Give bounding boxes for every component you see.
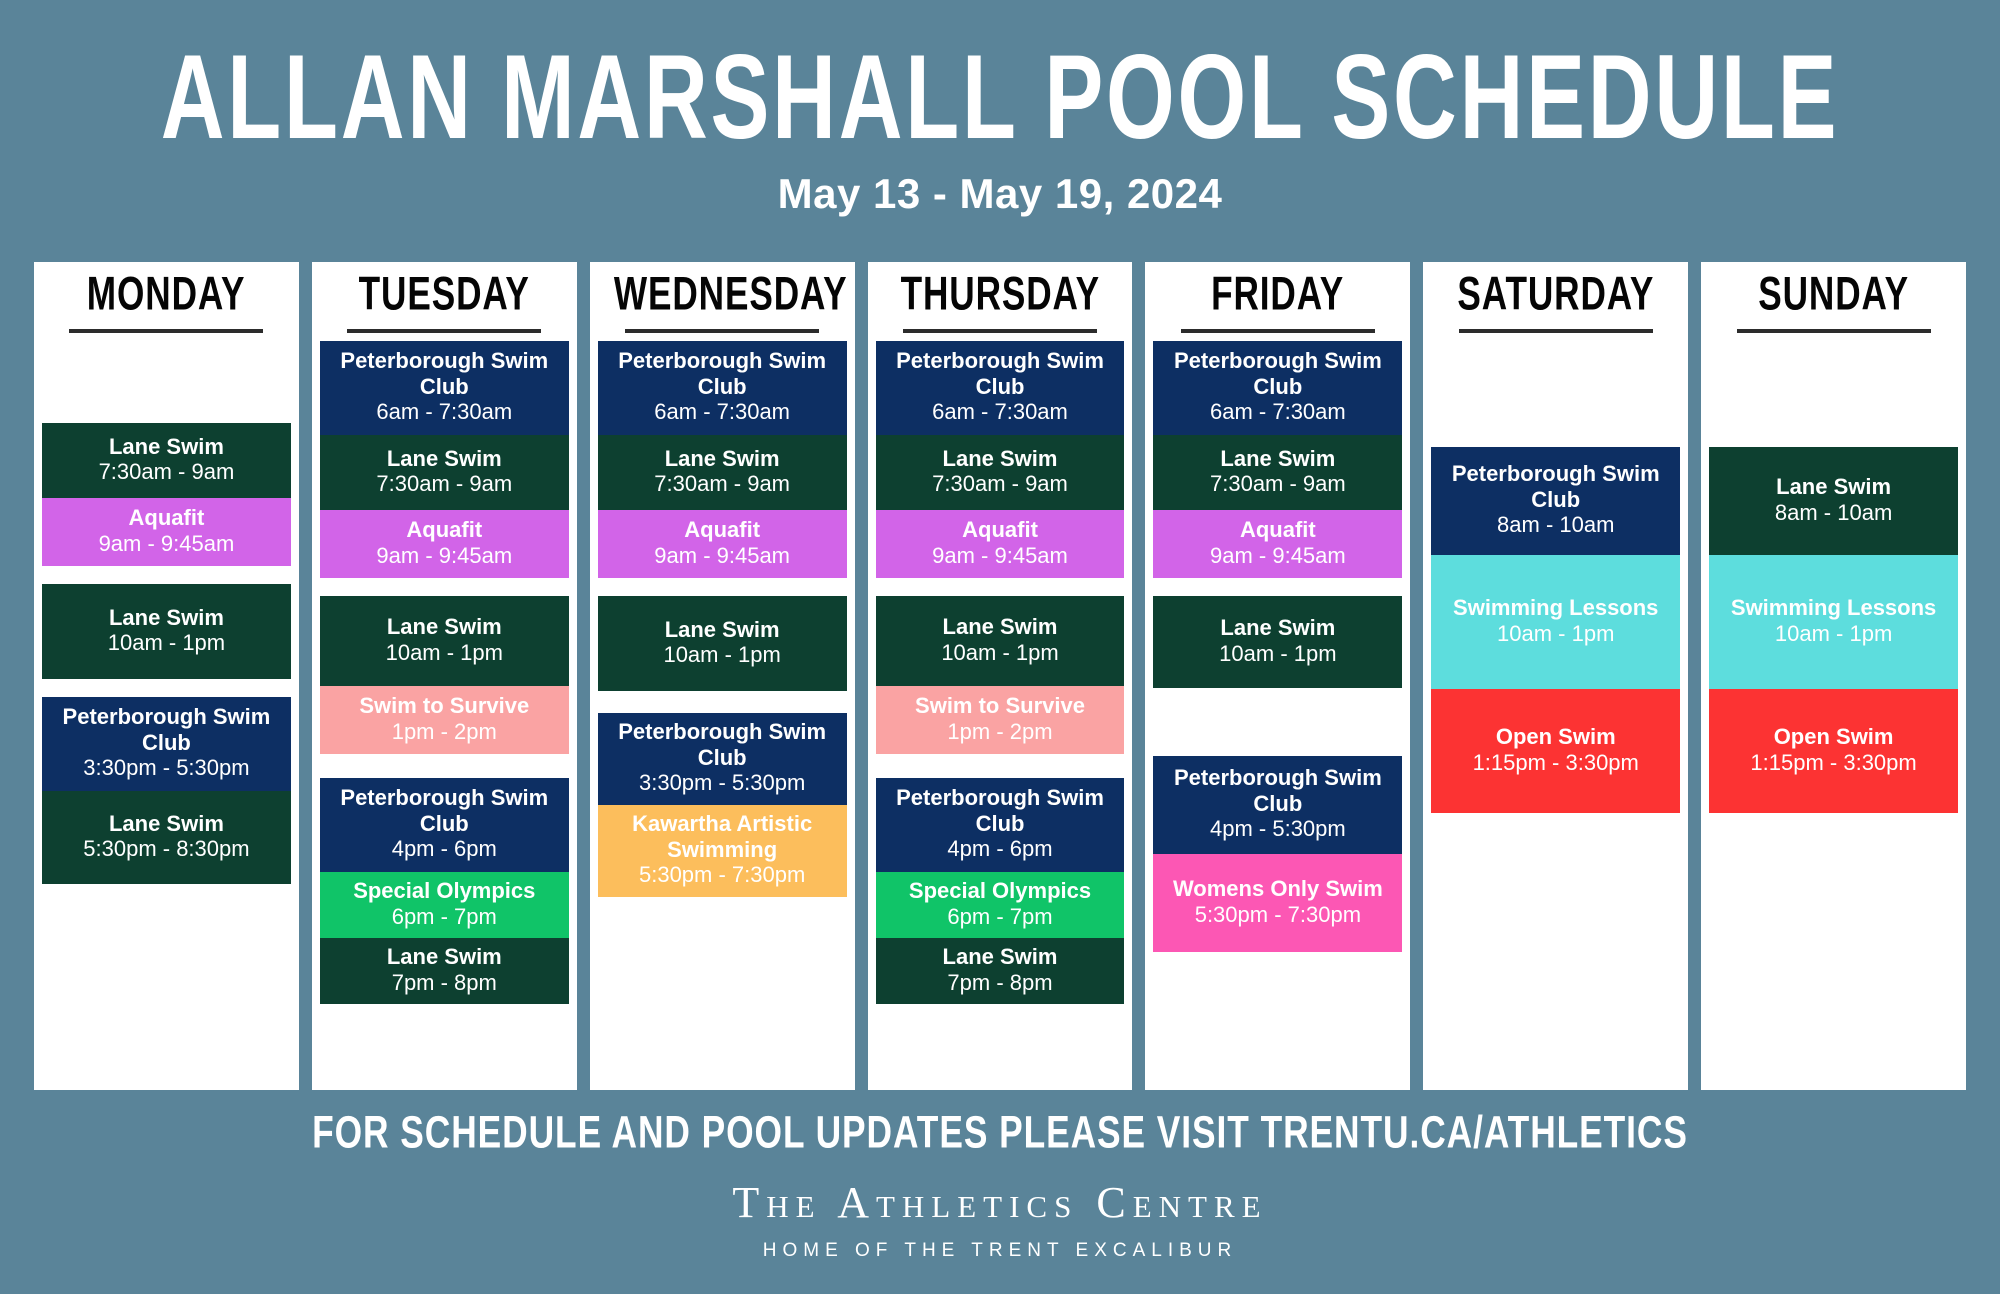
schedule-slot[interactable]: Lane Swim7:30am - 9am bbox=[320, 435, 569, 510]
day-header: WEDNESDAY bbox=[598, 262, 847, 333]
day-name-label: SATURDAY bbox=[1457, 268, 1654, 321]
slot-gap bbox=[42, 341, 291, 423]
schedule-slot[interactable]: Aquafit9am - 9:45am bbox=[42, 498, 291, 566]
slot-time: 6am - 7:30am bbox=[324, 399, 565, 425]
day-column-tuesday: TUESDAYPeterborough Swim Club6am - 7:30a… bbox=[312, 262, 577, 1090]
schedule-slot[interactable]: Peterborough Swim Club6am - 7:30am bbox=[876, 341, 1125, 435]
slot-time: 1pm - 2pm bbox=[324, 719, 565, 745]
slot-title: Swimming Lessons bbox=[1435, 595, 1676, 621]
slot-title: Peterborough Swim Club bbox=[324, 785, 565, 836]
schedule-slot[interactable]: Peterborough Swim Club6am - 7:30am bbox=[598, 341, 847, 435]
slot-gap bbox=[876, 578, 1125, 596]
slot-gap bbox=[1153, 688, 1402, 756]
schedule-slot[interactable]: Lane Swim7:30am - 9am bbox=[42, 423, 291, 498]
schedule-slot[interactable]: Lane Swim8am - 10am bbox=[1709, 447, 1958, 555]
slot-time: 9am - 9:45am bbox=[324, 543, 565, 569]
slot-gap bbox=[598, 691, 847, 713]
schedule-slot[interactable]: Special Olympics6pm - 7pm bbox=[876, 872, 1125, 938]
schedule-slot[interactable]: Peterborough Swim Club3:30pm - 5:30pm bbox=[42, 697, 291, 791]
slot-list: Lane Swim8am - 10amSwimming Lessons10am … bbox=[1709, 341, 1958, 813]
slot-time: 10am - 1pm bbox=[46, 630, 287, 656]
schedule-slot[interactable]: Peterborough Swim Club4pm - 5:30pm bbox=[1153, 756, 1402, 854]
slot-gap bbox=[598, 578, 847, 596]
slot-list: Peterborough Swim Club6am - 7:30amLane S… bbox=[320, 341, 569, 1004]
day-underline bbox=[69, 329, 263, 333]
slot-title: Peterborough Swim Club bbox=[1157, 348, 1398, 399]
schedule-slot[interactable]: Special Olympics6pm - 7pm bbox=[320, 872, 569, 938]
footer-updates-line: FOR SCHEDULE AND POOL UPDATES PLEASE VIS… bbox=[70, 1108, 1930, 1160]
slot-time: 6pm - 7pm bbox=[324, 904, 565, 930]
slot-time: 10am - 1pm bbox=[324, 640, 565, 666]
slot-list: Peterborough Swim Club6am - 7:30amLane S… bbox=[876, 341, 1125, 1004]
slot-title: Peterborough Swim Club bbox=[324, 348, 565, 399]
schedule-slot[interactable]: Lane Swim10am - 1pm bbox=[42, 584, 291, 679]
slot-title: Swim to Survive bbox=[880, 693, 1121, 719]
schedule-slot[interactable]: Peterborough Swim Club6am - 7:30am bbox=[1153, 341, 1402, 435]
slot-time: 1:15pm - 3:30pm bbox=[1713, 750, 1954, 776]
day-name-label: MONDAY bbox=[87, 268, 245, 321]
slot-title: Lane Swim bbox=[46, 434, 287, 460]
slot-time: 3:30pm - 5:30pm bbox=[46, 755, 287, 781]
slot-time: 6pm - 7pm bbox=[880, 904, 1121, 930]
day-name-label: THURSDAY bbox=[900, 268, 1099, 321]
poster-footer: FOR SCHEDULE AND POOL UPDATES PLEASE VIS… bbox=[0, 1108, 2000, 1262]
schedule-slot[interactable]: Kawartha Artistic Swimming5:30pm - 7:30p… bbox=[598, 805, 847, 897]
slot-time: 7pm - 8pm bbox=[880, 970, 1121, 996]
slot-time: 7:30am - 9am bbox=[46, 459, 287, 485]
schedule-slot[interactable]: Lane Swim7:30am - 9am bbox=[598, 435, 847, 510]
slot-title: Aquafit bbox=[46, 505, 287, 531]
schedule-slot[interactable]: Lane Swim7pm - 8pm bbox=[320, 938, 569, 1004]
schedule-slot[interactable]: Swim to Survive1pm - 2pm bbox=[876, 686, 1125, 754]
slot-list: Peterborough Swim Club6am - 7:30amLane S… bbox=[598, 341, 847, 897]
slot-title: Swim to Survive bbox=[324, 693, 565, 719]
slot-time: 7:30am - 9am bbox=[324, 471, 565, 497]
schedule-slot[interactable]: Lane Swim10am - 1pm bbox=[598, 596, 847, 691]
slot-gap bbox=[320, 578, 569, 596]
slot-time: 10am - 1pm bbox=[1713, 621, 1954, 647]
slot-time: 6am - 7:30am bbox=[602, 399, 843, 425]
day-header: SUNDAY bbox=[1709, 262, 1958, 333]
slot-list: Lane Swim7:30am - 9amAquafit9am - 9:45am… bbox=[42, 341, 291, 884]
schedule-slot[interactable]: Peterborough Swim Club4pm - 6pm bbox=[320, 778, 569, 872]
slot-time: 1:15pm - 3:30pm bbox=[1435, 750, 1676, 776]
day-header: SATURDAY bbox=[1431, 262, 1680, 333]
day-underline bbox=[625, 329, 819, 333]
schedule-slot[interactable]: Swimming Lessons10am - 1pm bbox=[1431, 555, 1680, 689]
slot-title: Peterborough Swim Club bbox=[602, 719, 843, 770]
slot-title: Open Swim bbox=[1713, 724, 1954, 750]
day-underline bbox=[347, 329, 541, 333]
slot-title: Peterborough Swim Club bbox=[880, 785, 1121, 836]
pool-schedule-poster: ALLAN MARSHALL POOL SCHEDULE May 13 - Ma… bbox=[0, 0, 2000, 1294]
schedule-slot[interactable]: Aquafit9am - 9:45am bbox=[1153, 510, 1402, 578]
slot-gap bbox=[1153, 578, 1402, 596]
schedule-slot[interactable]: Peterborough Swim Club6am - 7:30am bbox=[320, 341, 569, 435]
slot-time: 9am - 9:45am bbox=[880, 543, 1121, 569]
slot-gap bbox=[1431, 341, 1680, 447]
slot-title: Peterborough Swim Club bbox=[602, 348, 843, 399]
slot-time: 9am - 9:45am bbox=[602, 543, 843, 569]
slot-time: 8am - 10am bbox=[1713, 500, 1954, 526]
page-title: ALLAN MARSHALL POOL SCHEDULE bbox=[80, 38, 1920, 158]
slot-title: Lane Swim bbox=[880, 614, 1121, 640]
schedule-slot[interactable]: Peterborough Swim Club4pm - 6pm bbox=[876, 778, 1125, 872]
slot-title: Open Swim bbox=[1435, 724, 1676, 750]
slot-list: Peterborough Swim Club8am - 10amSwimming… bbox=[1431, 341, 1680, 813]
slot-title: Swimming Lessons bbox=[1713, 595, 1954, 621]
slot-time: 10am - 1pm bbox=[1157, 641, 1398, 667]
slot-gap bbox=[876, 754, 1125, 778]
slot-title: Lane Swim bbox=[1157, 446, 1398, 472]
day-underline bbox=[903, 329, 1097, 333]
schedule-slot[interactable]: Lane Swim7pm - 8pm bbox=[876, 938, 1125, 1004]
day-header: TUESDAY bbox=[320, 262, 569, 333]
slot-time: 7:30am - 9am bbox=[602, 471, 843, 497]
schedule-slot[interactable]: Lane Swim10am - 1pm bbox=[1153, 596, 1402, 688]
slot-title: Peterborough Swim Club bbox=[1435, 461, 1676, 512]
schedule-slot[interactable]: Lane Swim10am - 1pm bbox=[876, 596, 1125, 686]
day-column-thursday: THURSDAYPeterborough Swim Club6am - 7:30… bbox=[868, 262, 1133, 1090]
week-grid: MONDAYLane Swim7:30am - 9amAquafit9am - … bbox=[34, 262, 1966, 1090]
slot-title: Lane Swim bbox=[324, 446, 565, 472]
slot-title: Lane Swim bbox=[880, 944, 1121, 970]
day-name-label: TUESDAY bbox=[359, 268, 530, 321]
slot-time: 8am - 10am bbox=[1435, 512, 1676, 538]
slot-title: Lane Swim bbox=[324, 944, 565, 970]
slot-time: 7:30am - 9am bbox=[1157, 471, 1398, 497]
day-underline bbox=[1737, 329, 1931, 333]
slot-time: 10am - 1pm bbox=[602, 642, 843, 668]
slot-title: Lane Swim bbox=[602, 446, 843, 472]
slot-title: Aquafit bbox=[602, 517, 843, 543]
day-name-label: SUNDAY bbox=[1758, 268, 1909, 321]
schedule-slot[interactable]: Lane Swim10am - 1pm bbox=[320, 596, 569, 686]
slot-title: Lane Swim bbox=[602, 617, 843, 643]
poster-header: ALLAN MARSHALL POOL SCHEDULE May 13 - Ma… bbox=[0, 0, 2000, 218]
slot-time: 6am - 7:30am bbox=[1157, 399, 1398, 425]
slot-title: Aquafit bbox=[880, 517, 1121, 543]
day-underline bbox=[1181, 329, 1375, 333]
schedule-slot[interactable]: Aquafit9am - 9:45am bbox=[320, 510, 569, 578]
slot-time: 4pm - 6pm bbox=[880, 836, 1121, 862]
slot-time: 5:30pm - 7:30pm bbox=[602, 862, 843, 888]
footer-tagline: HOME OF THE TRENT EXCALIBUR bbox=[0, 1240, 2000, 1262]
slot-time: 10am - 1pm bbox=[1435, 621, 1676, 647]
slot-title: Peterborough Swim Club bbox=[46, 704, 287, 755]
day-name-label: WEDNESDAY bbox=[614, 268, 848, 321]
day-column-wednesday: WEDNESDAYPeterborough Swim Club6am - 7:3… bbox=[590, 262, 855, 1090]
day-column-saturday: SATURDAYPeterborough Swim Club8am - 10am… bbox=[1423, 262, 1688, 1090]
slot-title: Lane Swim bbox=[880, 446, 1121, 472]
day-column-monday: MONDAYLane Swim7:30am - 9amAquafit9am - … bbox=[34, 262, 299, 1090]
schedule-slot[interactable]: Open Swim1:15pm - 3:30pm bbox=[1709, 689, 1958, 813]
slot-gap bbox=[1709, 341, 1958, 447]
slot-title: Peterborough Swim Club bbox=[880, 348, 1121, 399]
schedule-slot[interactable]: Open Swim1:15pm - 3:30pm bbox=[1431, 689, 1680, 813]
schedule-slot[interactable]: Peterborough Swim Club8am - 10am bbox=[1431, 447, 1680, 555]
slot-time: 7:30am - 9am bbox=[880, 471, 1121, 497]
schedule-slot[interactable]: Swimming Lessons10am - 1pm bbox=[1709, 555, 1958, 689]
slot-title: Lane Swim bbox=[324, 614, 565, 640]
slot-title: Lane Swim bbox=[46, 811, 287, 837]
slot-time: 6am - 7:30am bbox=[880, 399, 1121, 425]
schedule-slot[interactable]: Swim to Survive1pm - 2pm bbox=[320, 686, 569, 754]
slot-title: Lane Swim bbox=[1713, 474, 1954, 500]
slot-list: Peterborough Swim Club6am - 7:30amLane S… bbox=[1153, 341, 1402, 952]
day-header: FRIDAY bbox=[1153, 262, 1402, 333]
slot-title: Special Olympics bbox=[880, 878, 1121, 904]
day-header: THURSDAY bbox=[876, 262, 1125, 333]
schedule-slot[interactable]: Lane Swim7:30am - 9am bbox=[1153, 435, 1402, 510]
slot-title: Lane Swim bbox=[46, 605, 287, 631]
date-range: May 13 - May 19, 2024 bbox=[0, 170, 2000, 218]
slot-title: Aquafit bbox=[324, 517, 565, 543]
schedule-slot[interactable]: Lane Swim5:30pm - 8:30pm bbox=[42, 791, 291, 884]
slot-title: Womens Only Swim bbox=[1157, 876, 1398, 902]
schedule-slot[interactable]: Peterborough Swim Club3:30pm - 5:30pm bbox=[598, 713, 847, 805]
slot-time: 9am - 9:45am bbox=[46, 531, 287, 557]
slot-gap bbox=[42, 679, 291, 697]
slot-time: 4pm - 5:30pm bbox=[1157, 816, 1398, 842]
slot-time: 5:30pm - 7:30pm bbox=[1157, 902, 1398, 928]
schedule-slot[interactable]: Aquafit9am - 9:45am bbox=[598, 510, 847, 578]
day-underline bbox=[1459, 329, 1653, 333]
slot-time: 9am - 9:45am bbox=[1157, 543, 1398, 569]
slot-time: 4pm - 6pm bbox=[324, 836, 565, 862]
day-column-sunday: SUNDAYLane Swim8am - 10amSwimming Lesson… bbox=[1701, 262, 1966, 1090]
schedule-slot[interactable]: Womens Only Swim5:30pm - 7:30pm bbox=[1153, 854, 1402, 952]
slot-title: Lane Swim bbox=[1157, 615, 1398, 641]
schedule-slot[interactable]: Lane Swim7:30am - 9am bbox=[876, 435, 1125, 510]
slot-time: 3:30pm - 5:30pm bbox=[602, 770, 843, 796]
slot-title: Special Olympics bbox=[324, 878, 565, 904]
slot-title: Aquafit bbox=[1157, 517, 1398, 543]
slot-time: 7pm - 8pm bbox=[324, 970, 565, 996]
slot-gap bbox=[320, 754, 569, 778]
schedule-slot[interactable]: Aquafit9am - 9:45am bbox=[876, 510, 1125, 578]
day-header: MONDAY bbox=[42, 262, 291, 333]
slot-gap bbox=[42, 566, 291, 584]
footer-athletics-centre: The Athletics Centre bbox=[0, 1177, 2000, 1228]
slot-title: Kawartha Artistic Swimming bbox=[602, 811, 843, 862]
slot-time: 10am - 1pm bbox=[880, 640, 1121, 666]
slot-time: 5:30pm - 8:30pm bbox=[46, 836, 287, 862]
day-name-label: FRIDAY bbox=[1211, 268, 1344, 321]
slot-title: Peterborough Swim Club bbox=[1157, 765, 1398, 816]
day-column-friday: FRIDAYPeterborough Swim Club6am - 7:30am… bbox=[1145, 262, 1410, 1090]
slot-time: 1pm - 2pm bbox=[880, 719, 1121, 745]
